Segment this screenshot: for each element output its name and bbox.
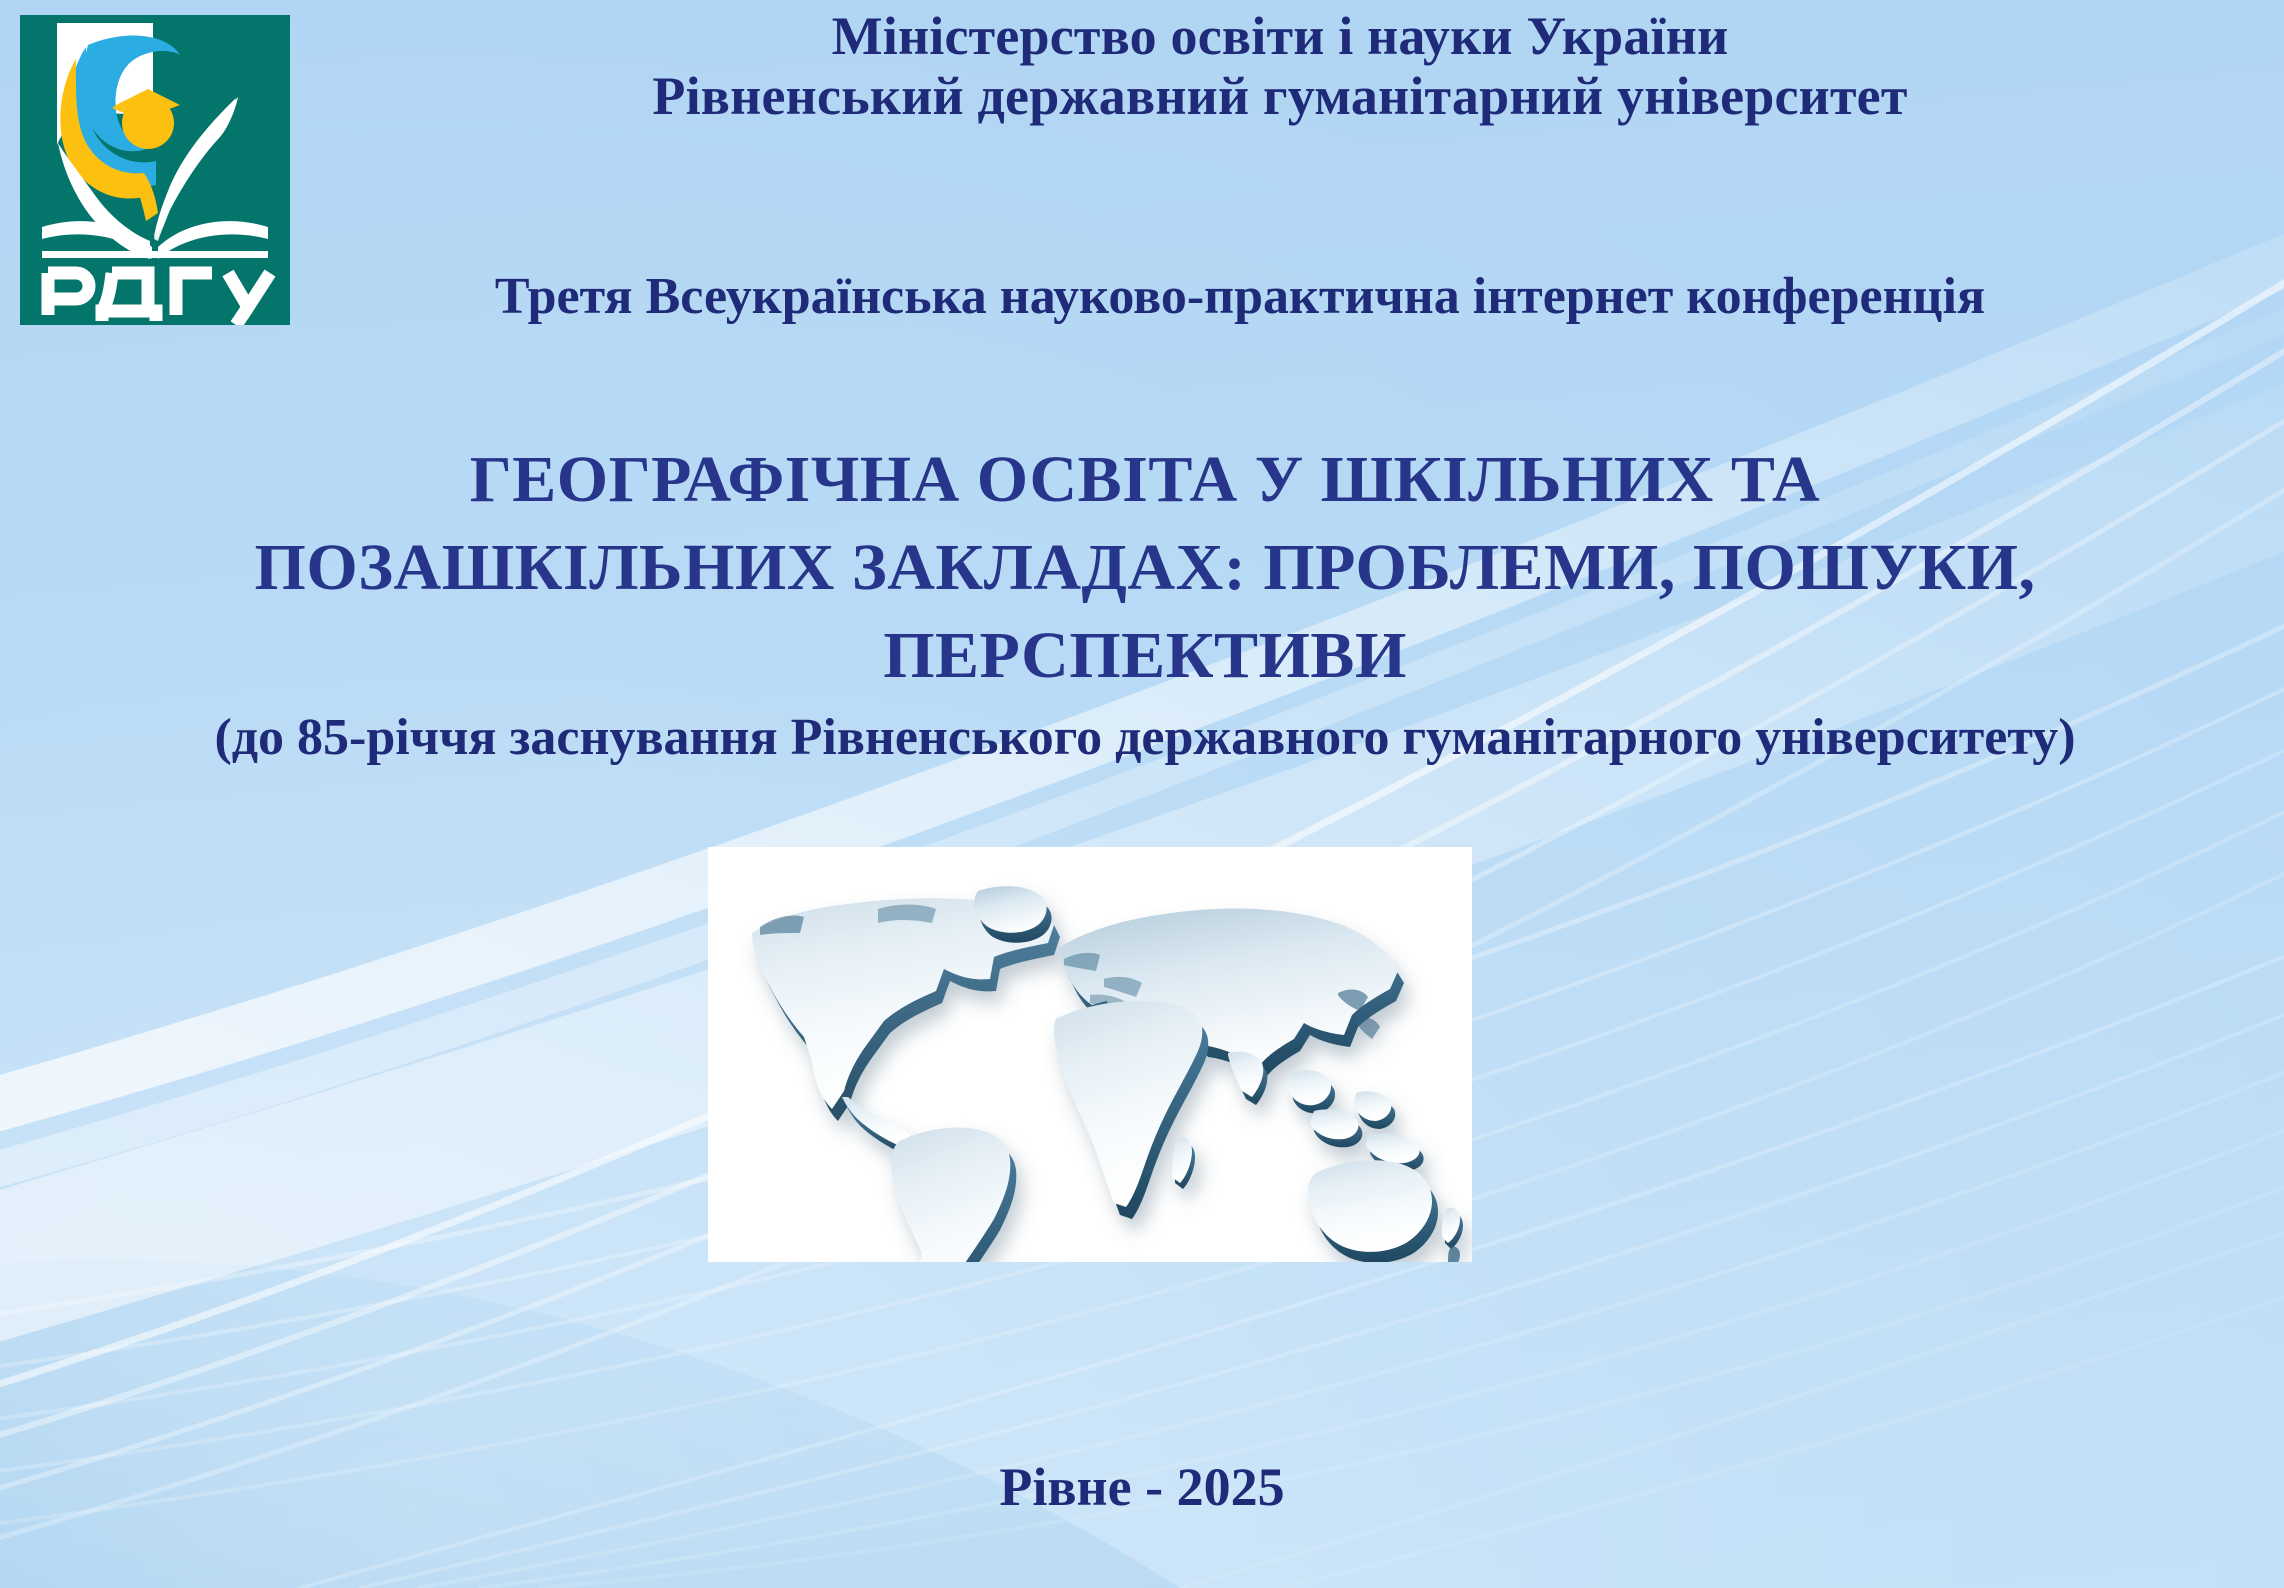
title-line-1: ГЕОГРАФІЧНА ОСВІТА У ШКІЛЬНИХ ТА (40, 436, 2250, 524)
background-swirl-decoration (0, 0, 2284, 1588)
page-title: ГЕОГРАФІЧНА ОСВІТА У ШКІЛЬНИХ ТА ПОЗАШКІ… (40, 436, 2250, 699)
rdhu-logo (20, 15, 290, 325)
anniversary-subtitle: (до 85-річчя заснування Рівненського дер… (30, 708, 2260, 768)
place-year-footer: Рівне - 2025 (0, 1456, 2284, 1518)
ministry-header: Міністерство освіти і науки України Рівн… (300, 6, 2260, 127)
world-map-3d-image (708, 847, 1472, 1262)
title-slide: Міністерство освіти і науки України Рівн… (0, 0, 2284, 1588)
title-line-2: ПОЗАШКІЛЬНИХ ЗАКЛАДАХ: ПРОБЛЕМИ, ПОШУКИ, (40, 524, 2250, 612)
ministry-line-1: Міністерство освіти і науки України (300, 6, 2260, 66)
title-line-3: ПЕРСПЕКТИВИ (40, 612, 2250, 700)
ministry-line-2: Рівненський державний гуманітарний уніве… (300, 66, 2260, 126)
conference-subtitle: Третя Всеукраїнська науково-практична ін… (290, 268, 2190, 325)
